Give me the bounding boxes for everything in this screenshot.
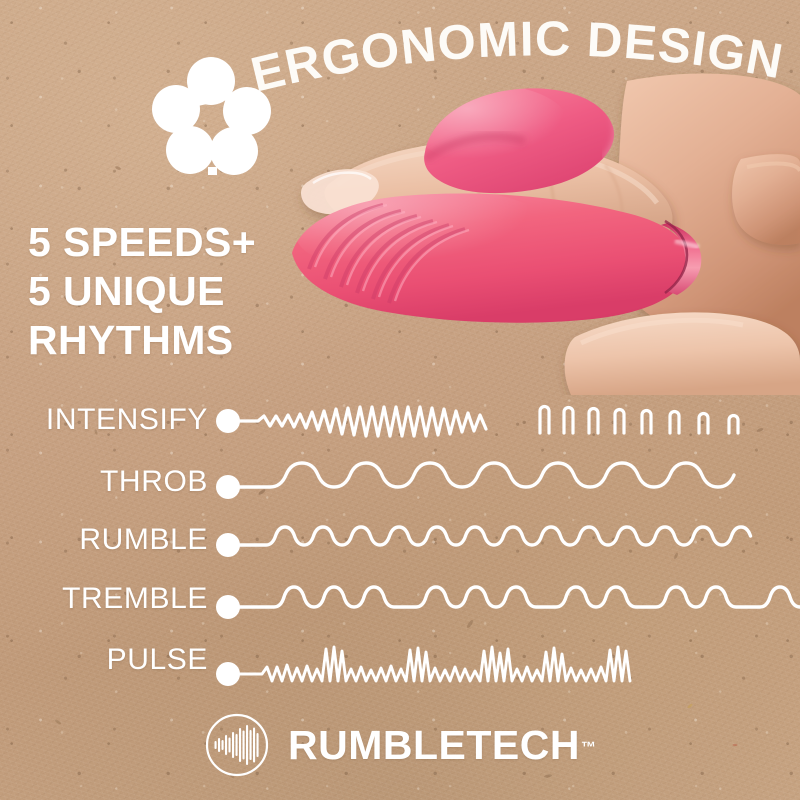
rhythm-wave-throb — [208, 454, 800, 512]
rhythm-row-intensify: INTENSIFY — [0, 392, 800, 450]
rhythm-row-pulse: PULSE — [0, 632, 800, 690]
rhythm-label-intensify: INTENSIFY — [46, 403, 208, 437]
feature-headline: 5 SPEEDS+ 5 UNIQUE RHYTHMS — [28, 222, 256, 369]
feature-line-3: RHYTHMS — [28, 320, 256, 361]
rhythm-label-rumble: RUMBLE — [79, 523, 208, 557]
rhythm-list: INTENSIFY THROB — [0, 392, 800, 692]
rhythm-row-throb: THROB — [0, 454, 800, 512]
audio-waveform-icon — [204, 712, 270, 778]
rhythm-label-pulse: PULSE — [107, 643, 208, 677]
rhythm-wave-tremble — [208, 571, 800, 629]
hand-thumb — [565, 312, 800, 395]
rhythm-label-tremble: TREMBLE — [62, 582, 208, 616]
trademark-symbol: ™ — [581, 739, 596, 756]
rhythm-wave-intensify — [208, 392, 800, 450]
feature-line-2: 5 UNIQUE — [28, 271, 256, 312]
feature-line-1: 5 SPEEDS+ — [28, 222, 256, 263]
brand-name-text: RUMBLETECH — [288, 722, 580, 768]
rhythm-wave-pulse — [208, 632, 800, 690]
brand-footer: RUMBLETECH™ — [0, 702, 800, 788]
rhythm-wave-rumble — [208, 512, 800, 570]
rhythm-row-tremble: TREMBLE — [0, 571, 800, 629]
rhythm-label-throb: THROB — [100, 465, 208, 499]
rhythm-row-rumble: RUMBLE — [0, 512, 800, 570]
product-feature-graphic: ERGONOMIC DESIGN — [0, 0, 800, 800]
product-image — [275, 55, 800, 395]
brand-wordmark: RUMBLETECH™ — [288, 722, 596, 769]
